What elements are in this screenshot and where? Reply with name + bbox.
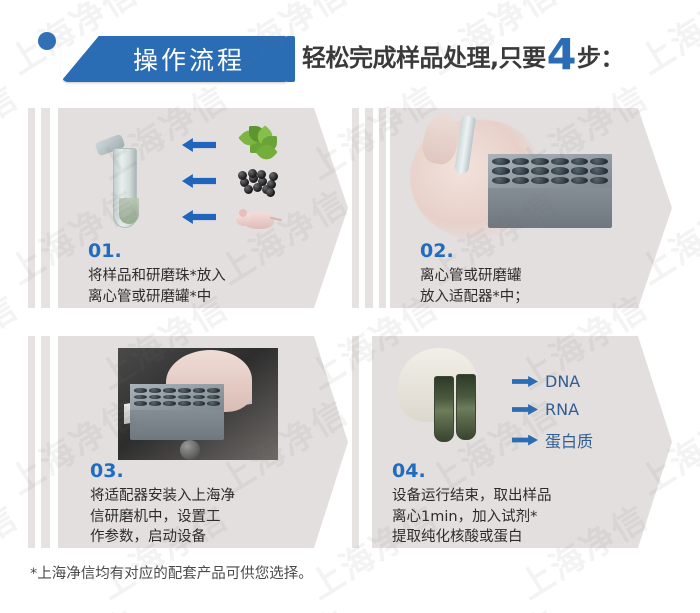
- page-title: 轻松完成样品处理,只要4步：: [302, 33, 624, 85]
- step-2-number: 02.: [420, 242, 529, 261]
- step-1-artwork: [88, 122, 318, 242]
- step-4-artwork: DNA RNA 蛋白质: [392, 344, 642, 460]
- grinder-machine-icon: [180, 440, 200, 460]
- panel-decor-bars: [352, 108, 386, 308]
- decor-bar: [41, 108, 50, 308]
- step-2-line-1: 离心管或研磨罐: [420, 266, 529, 287]
- test-tube-icon: [110, 140, 140, 228]
- sample-tube-icon: [456, 374, 476, 440]
- page-header: 操作流程 轻松完成样品处理,只要4步：: [0, 0, 700, 100]
- step-3-caption: 03. 将适配器安装入上海净 信研磨机中，设置工 作参数，启动设备: [90, 462, 235, 548]
- decor-bar: [28, 336, 35, 548]
- arrow-left-icon: [182, 174, 216, 188]
- step-count-number: 4: [547, 36, 576, 75]
- tube-body: [113, 148, 137, 228]
- step-1-line-1: 将样品和研磨珠*放入: [88, 266, 226, 287]
- step-3-line-1: 将适配器安装入上海净: [90, 486, 235, 507]
- arrow-right-icon: [512, 404, 538, 415]
- output-row-protein: 蛋白质: [512, 428, 593, 452]
- watermark-text: 上海净信: [418, 596, 566, 613]
- step-2-caption: 02. 离心管或研磨罐 放入适配器*中；: [420, 242, 529, 307]
- step-2-line-2: 放入适配器*中；: [420, 287, 529, 308]
- watermark-text: 上海净信: [208, 596, 356, 613]
- output-row-dna: DNA: [512, 372, 580, 391]
- plant-leaf-icon: [238, 128, 278, 162]
- decor-bar: [41, 336, 50, 548]
- adapter-block-icon: [488, 154, 612, 228]
- tagline-suffix: 步：: [577, 38, 624, 73]
- arrow-right-icon: [512, 435, 538, 446]
- arrow-right-icon: [512, 376, 538, 387]
- footer-note: *上海净信均有对应的配套产品可供您选择。: [30, 562, 313, 583]
- watermark-text: 上海净信: [628, 596, 700, 613]
- watermark-text: 上海净信: [0, 491, 26, 609]
- decor-bar: [365, 108, 374, 308]
- step-4-line-1: 设备运行结束，取出样品: [392, 486, 552, 507]
- output-label-dna: DNA: [545, 372, 580, 391]
- step-3-line-2: 信研磨机中，设置工: [90, 507, 235, 528]
- panel-decor-bars: [28, 336, 52, 548]
- arrow-left-icon: [182, 210, 216, 224]
- tube-liquid: [119, 198, 139, 224]
- step-panel-2: 02. 离心管或研磨罐 放入适配器*中；: [352, 108, 672, 308]
- decor-bar: [379, 108, 386, 308]
- output-label-protein: 蛋白质: [545, 428, 593, 452]
- output-row-rna: RNA: [512, 400, 579, 419]
- header-accent-bar: [286, 36, 295, 82]
- step-panel-4: DNA RNA 蛋白质 04. 设备运行结束，取出样品 离心1min，加入试剂*…: [352, 336, 672, 548]
- step-4-caption: 04. 设备运行结束，取出样品 离心1min，加入试剂* 提取纯化核酸或蛋白: [392, 462, 552, 548]
- decor-bar: [352, 108, 359, 308]
- step-1-number: 01.: [88, 242, 226, 261]
- decor-bar: [352, 336, 359, 548]
- arrow-left-icon: [182, 138, 216, 152]
- panel-decor-bars: [28, 108, 52, 308]
- grinding-beads-icon: [236, 168, 280, 198]
- step-4-line-2: 离心1min，加入试剂*: [392, 507, 552, 528]
- watermark-text: 上海净信: [0, 596, 146, 613]
- step-panel-3: 03. 将适配器安装入上海净 信研磨机中，设置工 作参数，启动设备: [28, 336, 348, 548]
- decor-bar: [28, 108, 35, 308]
- step-1-caption: 01. 将样品和研磨珠*放入 离心管或研磨罐*中: [88, 242, 226, 307]
- section-badge: 操作流程: [62, 36, 290, 82]
- output-label-rna: RNA: [545, 400, 579, 419]
- mouse-icon: [234, 204, 280, 232]
- bullet-dot-icon: [38, 32, 56, 50]
- step-3-number: 03.: [90, 462, 235, 481]
- section-badge-label: 操作流程: [62, 36, 290, 82]
- step-2-artwork: [400, 112, 640, 244]
- adapter-block-icon: [130, 384, 224, 440]
- sample-tube-icon: [434, 376, 454, 442]
- step-4-line-3: 提取纯化核酸或蛋白: [392, 527, 552, 548]
- step-4-number: 04.: [392, 462, 552, 481]
- step-1-line-2: 离心管或研磨罐*中: [88, 287, 226, 308]
- step-panel-1: 01. 将样品和研磨珠*放入 离心管或研磨罐*中: [28, 108, 348, 308]
- step-3-artwork: [118, 348, 278, 460]
- step-3-line-3: 作参数，启动设备: [90, 527, 235, 548]
- tagline-prefix: 轻松完成样品处理,只要: [302, 38, 546, 73]
- watermark-text: 上海净信: [0, 281, 26, 399]
